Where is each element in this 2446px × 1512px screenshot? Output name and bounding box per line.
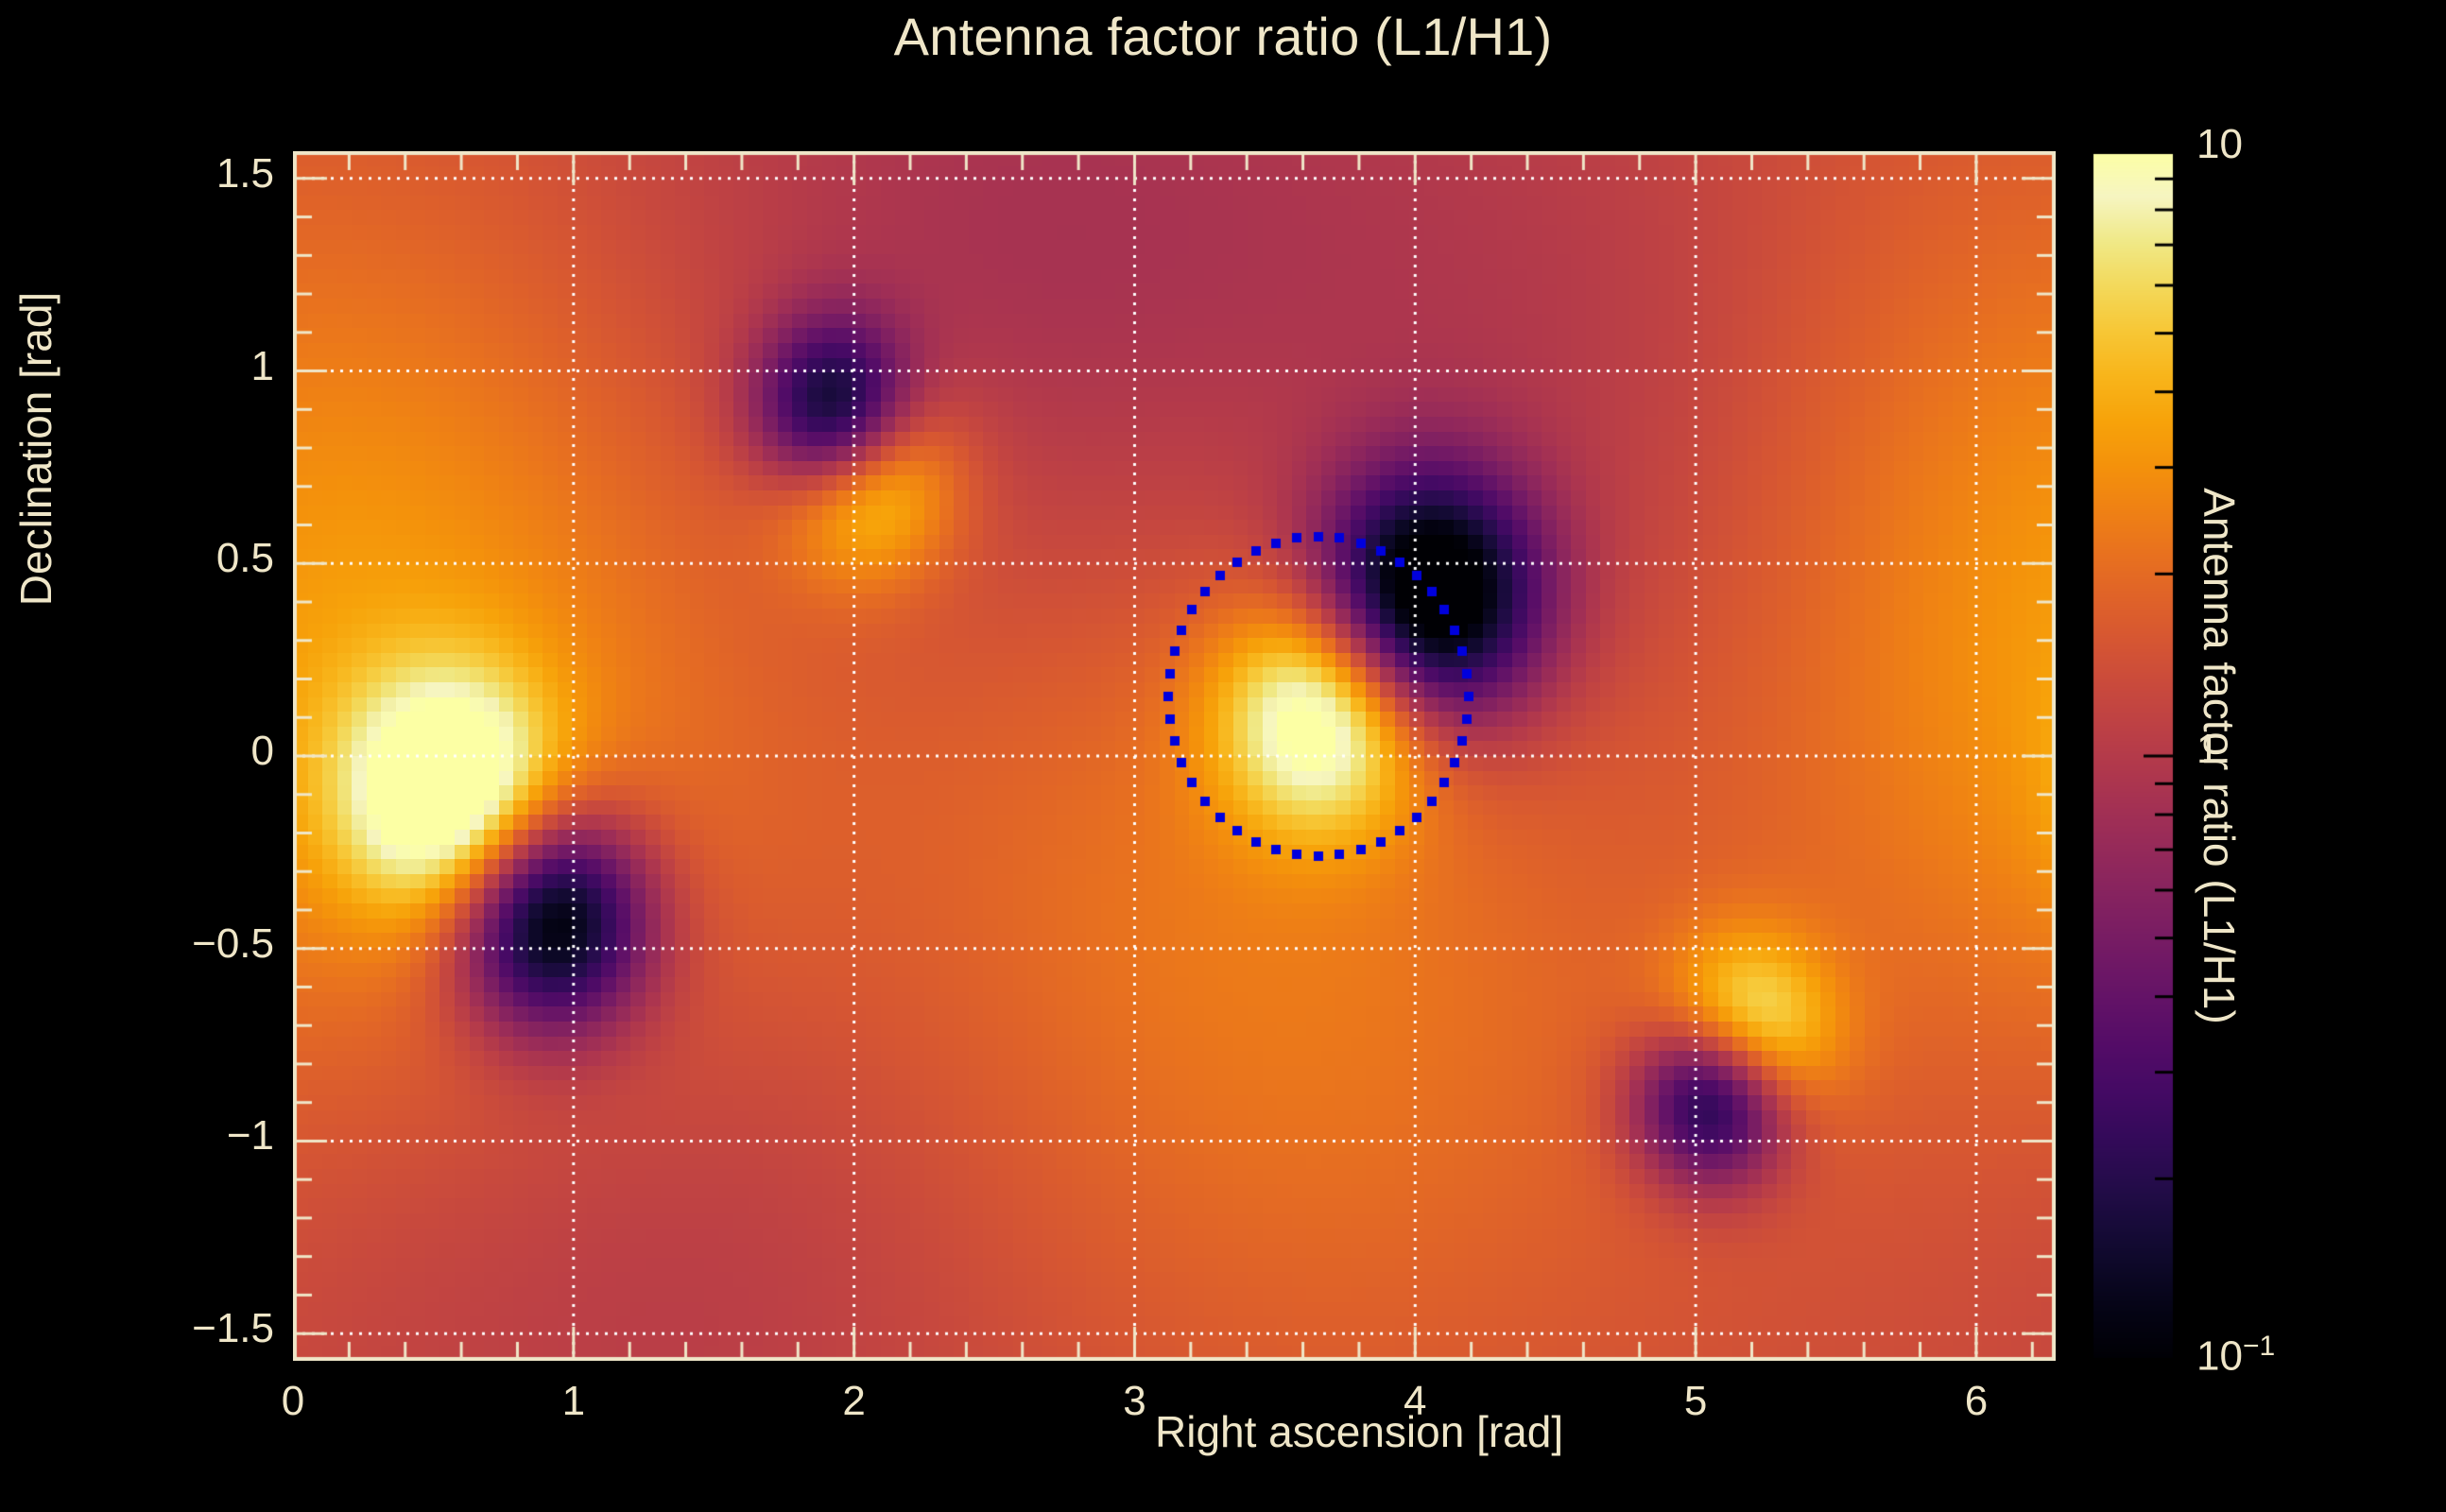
y-tick-label: −0.5: [113, 920, 274, 968]
y-tick-label: −1: [113, 1112, 274, 1160]
colorbar-tick-label: 10: [2196, 121, 2243, 168]
grid-and-marker-overlay: [293, 151, 2056, 1361]
figure-canvas: Antenna factor ratio (L1/H1) Declination…: [0, 0, 2446, 1512]
y-axis-title: Declination [rad]: [10, 0, 61, 912]
x-tick-label: 0: [236, 1378, 350, 1425]
x-tick-label: 1: [517, 1378, 630, 1425]
colorbar-title: Antenna factor ratio (L1/H1): [2194, 213, 2245, 1299]
y-tick-label: 0.5: [113, 535, 274, 582]
colorbar[interactable]: [2091, 151, 2176, 1361]
x-tick-label: 6: [1920, 1378, 2033, 1425]
x-axis-title: Right ascension [rad]: [1155, 1406, 1563, 1457]
x-tick-label: 5: [1639, 1378, 1752, 1425]
x-tick-label: 2: [798, 1378, 911, 1425]
y-tick-label: 0: [113, 728, 274, 775]
colorbar-ticks: [2091, 151, 2176, 1361]
page-title: Antenna factor ratio (L1/H1): [0, 6, 2446, 67]
heatmap-plot-area[interactable]: [293, 151, 2056, 1361]
y-tick-label: 1: [113, 343, 274, 390]
y-tick-label: −1.5: [113, 1305, 274, 1352]
y-tick-label: 1.5: [113, 150, 274, 198]
colorbar-tick-label: 10−1: [2196, 1331, 2275, 1381]
